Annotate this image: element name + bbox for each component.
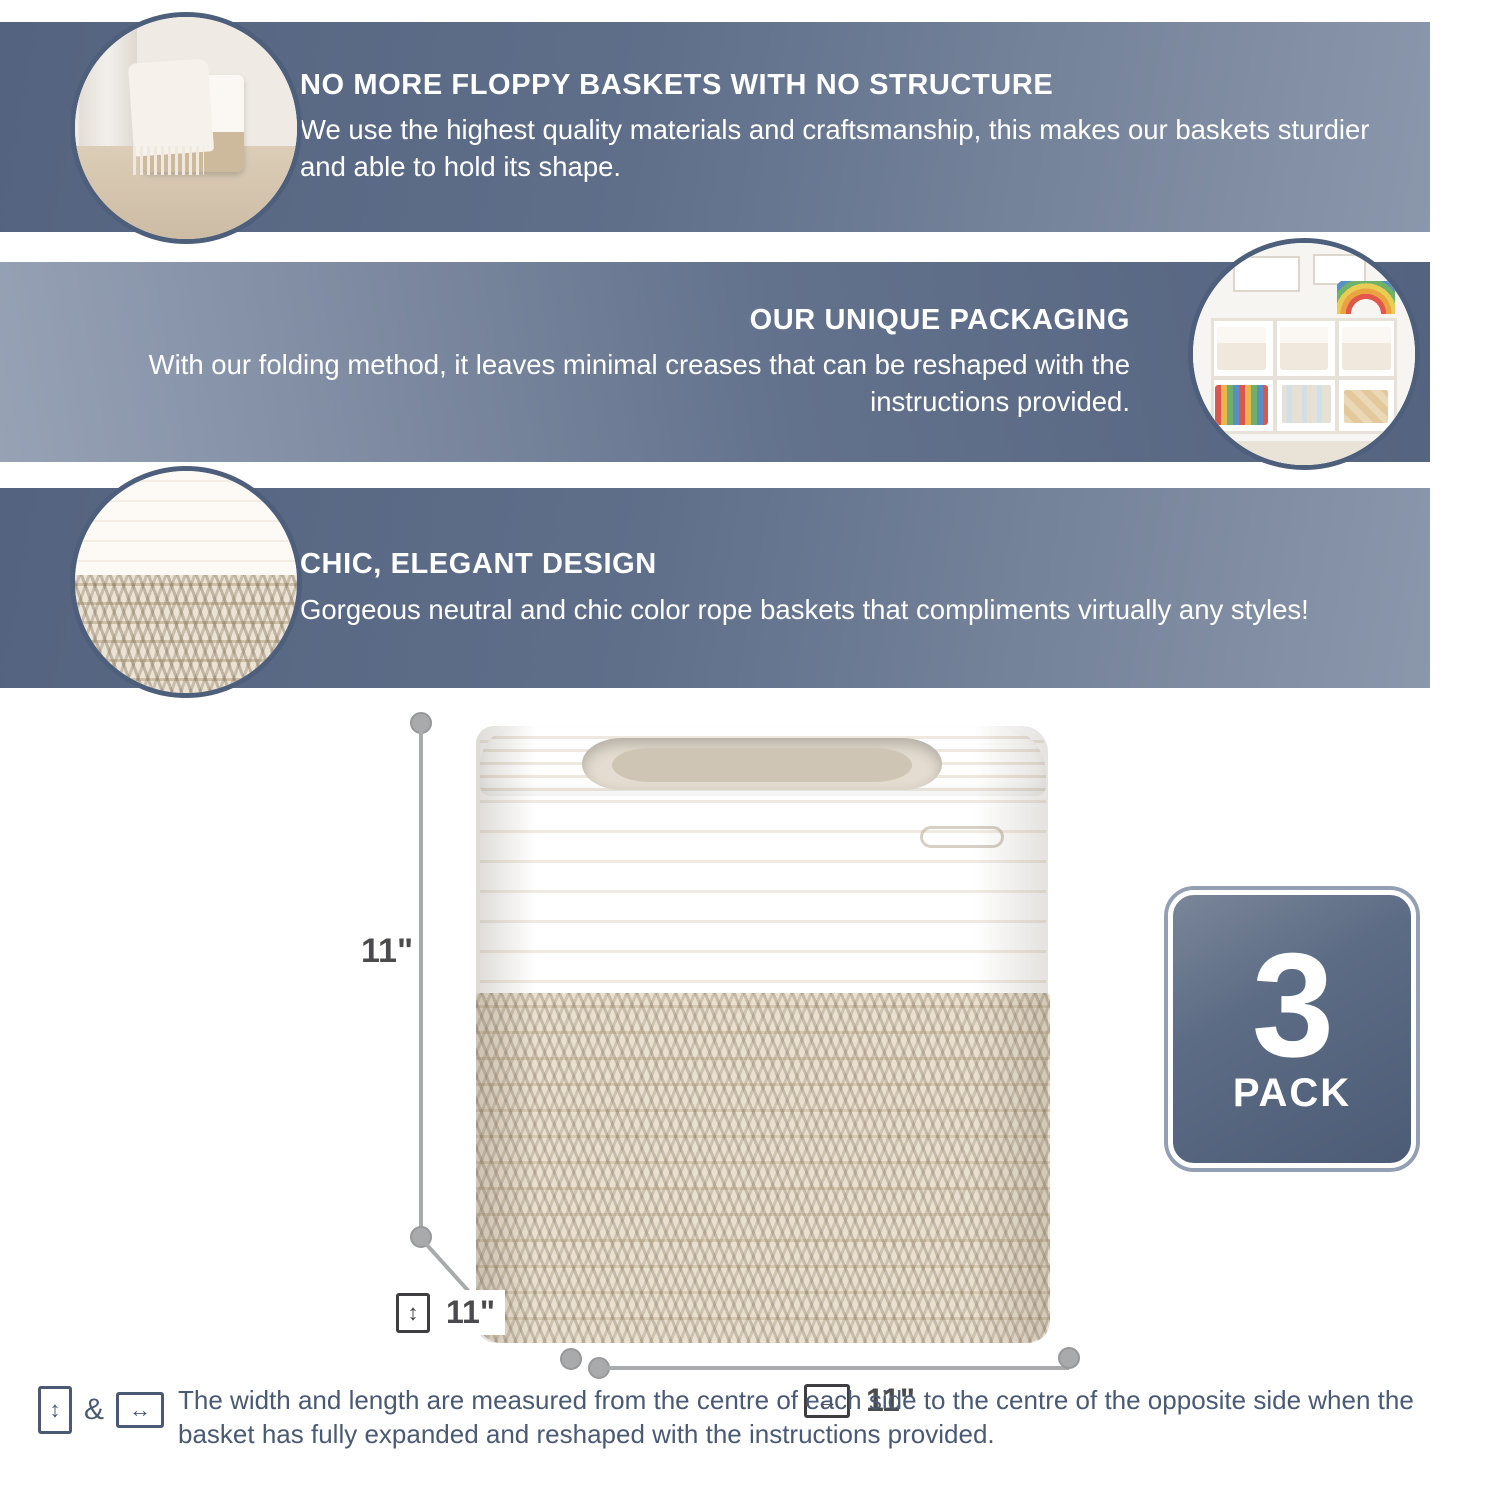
footer-ampersand: &	[84, 1393, 104, 1427]
dimension-dot-width-right	[1058, 1347, 1080, 1369]
dimension-line-height	[419, 723, 423, 1236]
feature-body-2: With our folding method, it leaves minim…	[40, 347, 1130, 420]
footer-note-text: The width and length are measured from t…	[178, 1382, 1468, 1452]
thumb-1-art	[75, 17, 297, 239]
vertical-arrow-icon: ↕	[38, 1386, 72, 1434]
dimension-callout-depth: ↕ 11"	[392, 1290, 505, 1335]
rope-texture-closeup-photo	[70, 466, 302, 698]
dimension-label-depth: 11"	[440, 1292, 501, 1333]
rope-basket-illustration	[462, 718, 1062, 1343]
feature-title-1: NO MORE FLOPPY BASKETS WITH NO STRUCTURE	[300, 69, 1390, 102]
vertical-arrow-icon: ↕	[396, 1293, 430, 1333]
cube-shelf-with-baskets-photo	[1188, 238, 1420, 470]
pack-count-number: 3	[1252, 942, 1332, 1069]
thumb-3-art	[75, 471, 297, 693]
pack-count-badge: 3 PACK	[1168, 890, 1416, 1168]
footer-note: ↕ & ↔ The width and length are measured …	[38, 1382, 1468, 1452]
dimension-label-height: 11"	[355, 930, 419, 973]
dimension-dot-depth-end	[560, 1348, 582, 1370]
dimension-line-width	[599, 1366, 1069, 1370]
feature-body-3: Gorgeous neutral and chic color rope bas…	[300, 592, 1390, 628]
thumb-2-art	[1193, 243, 1415, 465]
basket-with-throw-blanket-photo	[70, 12, 302, 244]
pack-count-word: PACK	[1233, 1071, 1351, 1116]
feature-body-1: We use the highest quality materials and…	[300, 112, 1390, 185]
feature-title-3: CHIC, ELEGANT DESIGN	[300, 548, 1390, 581]
product-photo	[440, 700, 1080, 1375]
horizontal-arrow-icon: ↔	[116, 1392, 164, 1428]
feature-title-2: OUR UNIQUE PACKAGING	[750, 304, 1130, 337]
footer-icon-group: ↕ & ↔	[38, 1382, 164, 1434]
